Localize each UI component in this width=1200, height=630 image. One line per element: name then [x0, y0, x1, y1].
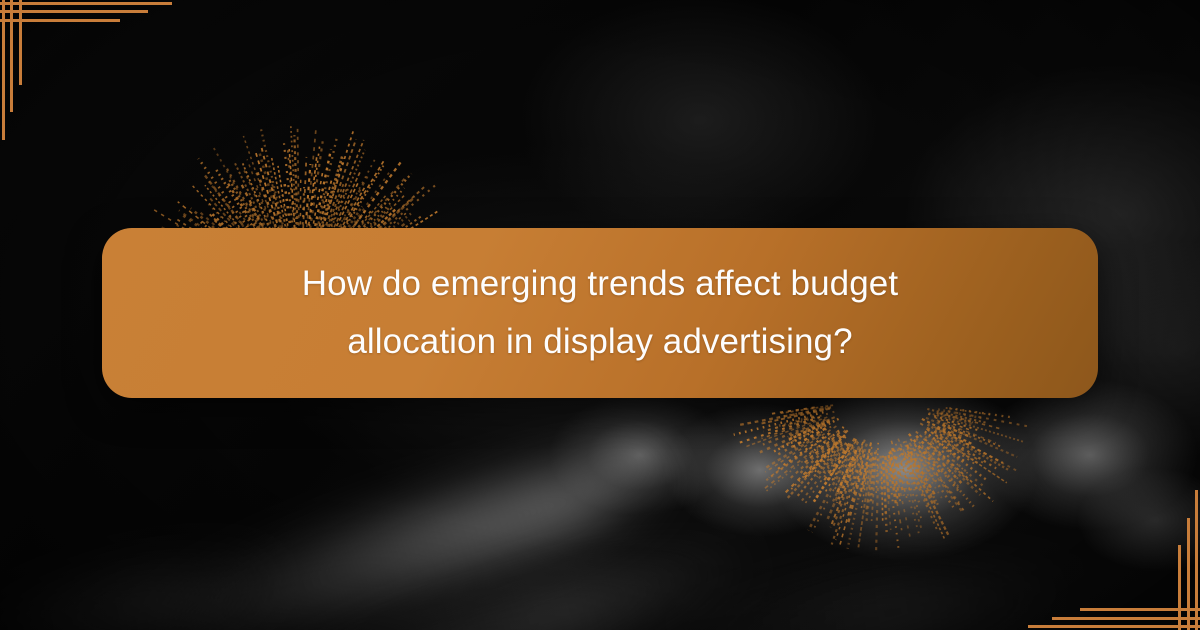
question-title: How do emerging trends affect budget all…	[250, 255, 950, 371]
question-card: How do emerging trends affect budget all…	[102, 228, 1098, 398]
social-card-canvas: How do emerging trends affect budget all…	[0, 0, 1200, 630]
